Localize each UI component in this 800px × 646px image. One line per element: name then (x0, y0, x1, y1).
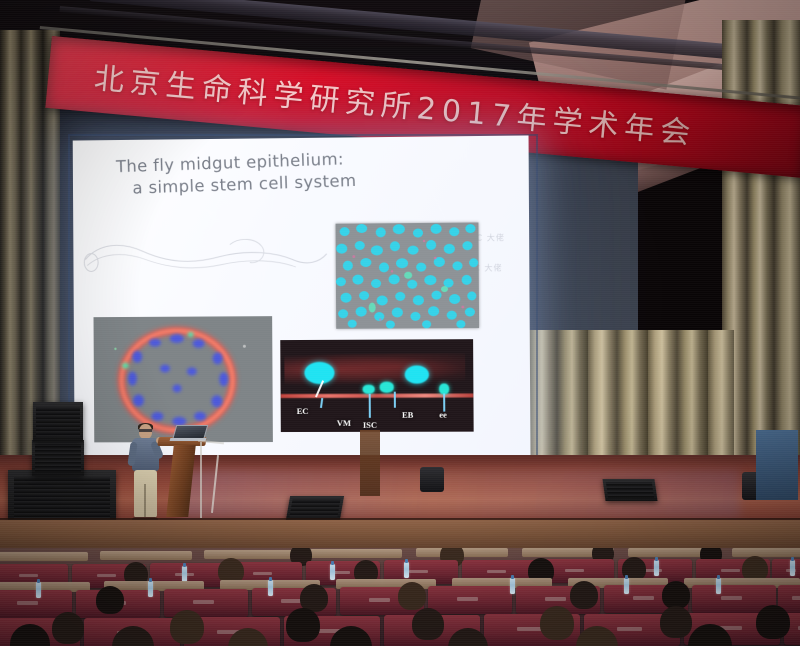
label-ec: EC (297, 406, 309, 416)
fly-gut-schematic-icon (81, 224, 330, 288)
desk (310, 549, 402, 558)
isc-arrow-icon (369, 394, 371, 418)
water-bottle[interactable] (654, 560, 659, 576)
audience-seating (0, 548, 800, 646)
water-bottle[interactable] (148, 581, 153, 597)
speaker-stack-right (756, 430, 798, 500)
rear-lectern (360, 430, 380, 496)
presenter-leg-seam (144, 484, 146, 518)
lectern-body (166, 445, 196, 517)
water-bottle[interactable] (510, 578, 515, 594)
seat[interactable] (428, 586, 512, 614)
desk (100, 551, 192, 560)
label-eb: EB (402, 410, 413, 420)
ec-nucleus (405, 365, 429, 383)
water-bottle[interactable] (182, 566, 187, 582)
projection-screen: The fly midgut epithelium: a simple stem… (73, 135, 531, 463)
water-bottle[interactable] (790, 560, 795, 576)
micrograph-nuclei-field (336, 222, 480, 328)
audience-head (412, 608, 444, 640)
audience-head (170, 610, 204, 644)
audience-head (96, 586, 124, 614)
micrograph-sagittal-epithelium: EC VM ISC EB ee (280, 339, 473, 432)
slide-title: The fly midgut epithelium: a simple stem… (116, 144, 477, 201)
desk (732, 548, 800, 557)
audience-head (756, 605, 790, 639)
stage-monitor-right (602, 479, 657, 501)
presenter-glasses (139, 429, 152, 432)
label-vm: VM (337, 418, 351, 428)
audience-head (660, 606, 692, 638)
moving-head-light-center (420, 467, 444, 492)
audience-head (662, 581, 690, 609)
audience-head (570, 581, 598, 609)
vm-arrow-icon (320, 398, 323, 408)
water-bottle[interactable] (330, 564, 335, 580)
stage-monitor-center (286, 496, 344, 520)
water-bottle[interactable] (716, 578, 721, 594)
water-bottle[interactable] (404, 562, 409, 578)
laptop (170, 425, 204, 441)
gut-ring-svg (94, 316, 273, 442)
desk (204, 550, 296, 559)
presenter-head (139, 424, 152, 439)
water-bottle[interactable] (268, 580, 273, 596)
line-array-speaker-upper (33, 402, 83, 442)
water-bottle[interactable] (36, 582, 41, 598)
micrograph-gut-cross-section (94, 316, 273, 442)
line-array-speaker-lower (32, 440, 84, 476)
audience-head (286, 608, 320, 642)
audience-head (52, 612, 84, 644)
label-ee: ee (439, 410, 447, 420)
water-bottle[interactable] (624, 578, 629, 594)
label-isc: ISC (363, 420, 377, 430)
lectern-rail (200, 442, 202, 518)
presenter (128, 424, 162, 524)
nuclei-field-svg (336, 222, 480, 328)
lectern (164, 437, 200, 519)
desk (0, 552, 88, 561)
audience-head (398, 582, 426, 610)
auditorium-photo: 北京生命科学研究所2017年学术年会 The fly midgut epithe… (0, 0, 800, 646)
eb-arrow-icon (394, 392, 396, 408)
audience-head (540, 606, 574, 640)
ec-nucleus (304, 362, 334, 384)
eb-nucleus (380, 382, 394, 393)
isc-nucleus (363, 385, 375, 394)
